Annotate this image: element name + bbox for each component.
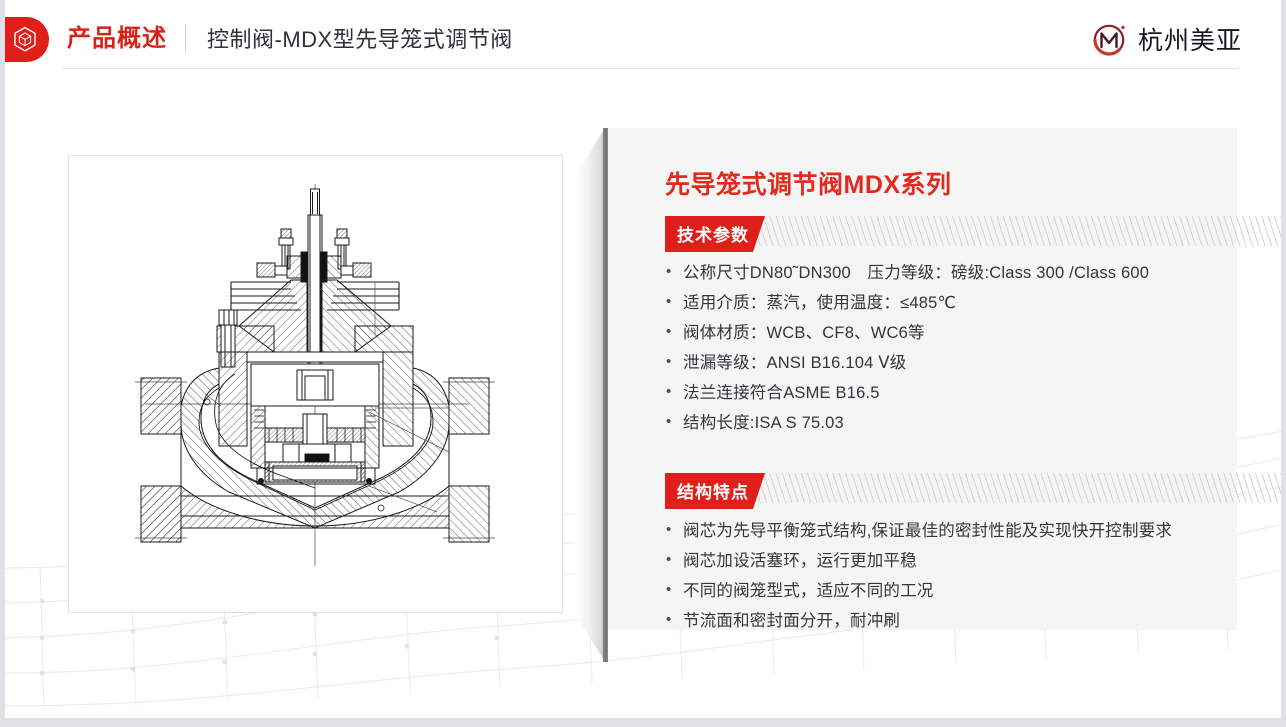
title-divider: [185, 24, 186, 52]
page-title-primary: 产品概述: [67, 24, 167, 54]
section-structure-header: 结构特点: [665, 473, 765, 509]
panel-title: 先导笼式调节阀MDX系列: [665, 165, 952, 201]
structure-features-list: 阀芯为先导平衡笼式结构,保证最佳的密封性能及实现快开控制要求 阀芯加设活塞环，运…: [665, 516, 1172, 636]
section-hatch-strip-2: [741, 473, 1286, 503]
list-item: 节流面和密封面分开，耐冲刷: [665, 606, 1172, 636]
tech-params-list: 公称尺寸DN80˜DN300 压力等级：磅级:Class 300 /Class …: [665, 258, 1149, 438]
product-badge[interactable]: [0, 17, 49, 62]
list-item: 法兰连接符合ASME B16.5: [665, 378, 1149, 408]
valve-drawing-frame: [68, 155, 563, 613]
bottom-edge-strip: [0, 718, 1286, 727]
page-header: 产品概述 控制阀-MDX型先导笼式调节阀 杭州美亚: [0, 0, 1286, 72]
circle-m-logo-icon: [1090, 19, 1130, 59]
list-item: 阀芯加设活塞环，运行更加平稳: [665, 546, 1172, 576]
list-item: 阀芯为先导平衡笼式结构,保证最佳的密封性能及实现快开控制要求: [665, 516, 1172, 546]
list-item: 结构长度:ISA S 75.03: [665, 408, 1149, 438]
right-edge-strip: [1281, 0, 1286, 727]
list-item: 公称尺寸DN80˜DN300 压力等级：磅级:Class 300 /Class …: [665, 258, 1149, 288]
list-item: 不同的阀笼型式，适应不同的工况: [665, 576, 1172, 606]
panel-page-fold: [575, 128, 605, 662]
slide-page: 产品概述 控制阀-MDX型先导笼式调节阀 杭州美亚: [0, 0, 1286, 727]
cube-hexagon-icon: [12, 26, 38, 53]
section-hatch-strip-1: [741, 216, 1286, 246]
header-divider-line: [62, 68, 1238, 69]
section-tech-params-header: 技术参数: [665, 216, 765, 252]
section-tag-tech-params: 技术参数: [665, 216, 765, 252]
section-tag-structure: 结构特点: [665, 473, 765, 509]
left-edge-strip: [0, 0, 5, 727]
control-valve-cross-section-drawing: [69, 156, 562, 612]
list-item: 适用介质：蒸汽，使用温度：≤485℃: [665, 288, 1149, 318]
list-item: 阀体材质：WCB、CF8、WC6等: [665, 318, 1149, 348]
brand-name-label: 杭州美亚: [1138, 21, 1242, 57]
spec-panel: 先导笼式调节阀MDX系列 技术参数 公称尺寸DN80˜DN300 压力等级：磅级…: [608, 128, 1237, 630]
list-item: 泄漏等级：ANSI B16.104 Ⅴ级: [665, 348, 1149, 378]
page-title-secondary: 控制阀-MDX型先导笼式调节阀: [207, 25, 513, 55]
company-brand: 杭州美亚: [1090, 19, 1242, 59]
